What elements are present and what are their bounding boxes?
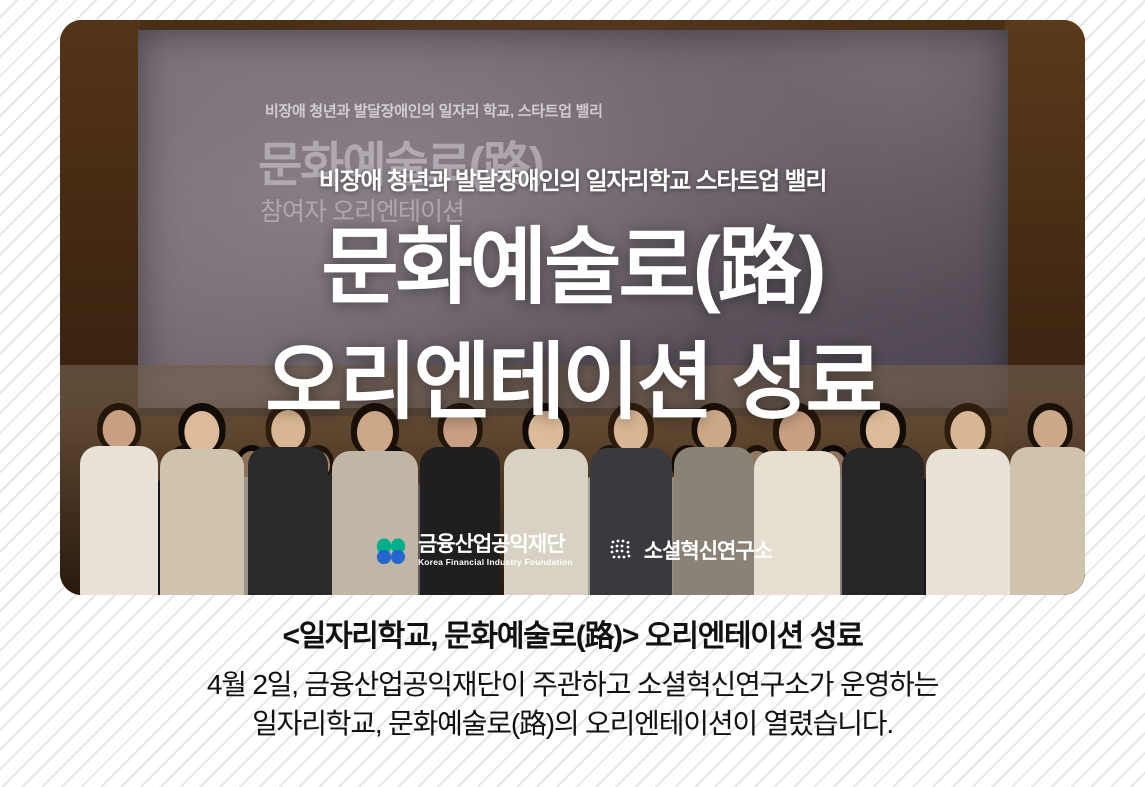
overlay-title-line1: 문화예술로(路) xyxy=(60,225,1085,309)
event-photo-card: 비장애 청년과 발달장애인의 일자리 학교, 스타트업 밸리 문화예술로(路) … xyxy=(60,20,1085,595)
overlay-title-line2: 오리엔테이션 성료 xyxy=(60,340,1085,424)
caption-body: 4월 2일, 금융산업공익재단이 주관하고 소셜혁신연구소가 운영하는 일자리학… xyxy=(0,665,1145,743)
participant-silhouette xyxy=(1010,399,1085,595)
participant-silhouette xyxy=(160,399,244,595)
caption-block: <일자리학교, 문화예술로(路)> 오리엔테이션 성료 4월 2일, 금융산업공… xyxy=(0,618,1145,743)
caption-body-line2: 일자리학교, 문화예술로(路)의 오리엔테이션이 열렸습니다. xyxy=(0,704,1145,743)
overlay-subtitle: 비장애 청년과 발달장애인의 일자리학교 스타트업 밸리 xyxy=(60,161,1085,196)
caption-body-line1: 4월 2일, 금융산업공익재단이 주관하고 소셜혁신연구소가 운영하는 xyxy=(0,665,1145,704)
participant-silhouette xyxy=(926,399,1010,595)
caption-headline: <일자리학교, 문화예술로(路)> 오리엔테이션 성료 xyxy=(0,618,1145,656)
slide-eyebrow-text: 비장애 청년과 발달장애인의 일자리 학교, 스타트업 밸리 xyxy=(265,100,603,121)
participant-silhouette xyxy=(80,399,158,595)
